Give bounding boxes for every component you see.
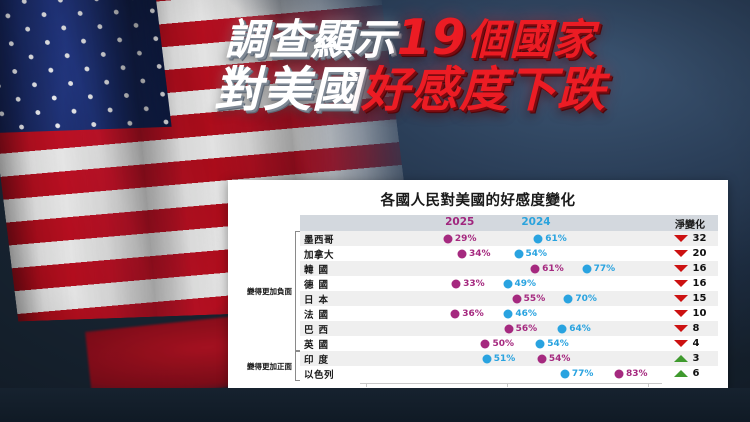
net-change-cell: 16 <box>662 278 718 289</box>
country-label: 墨西哥 <box>300 232 360 246</box>
chart-header-row: 2025 2024 淨變化 <box>300 215 718 231</box>
country-label: 韓國 <box>300 262 360 276</box>
country-label: 以色列 <box>300 367 360 381</box>
data-label-p24: 51% <box>494 354 516 364</box>
dumbbell-plot: 61%77% <box>360 261 662 276</box>
dumbbell-plot: 55%70% <box>360 291 662 306</box>
arrow-down-icon <box>674 310 688 317</box>
dumbbell-plot: 50%54% <box>360 336 662 351</box>
data-point-p25 <box>481 339 490 348</box>
chart-rows: 墨西哥29%61%32加拿大34%54%20韓國61%77%16德國33%49%… <box>300 231 718 381</box>
data-point-p25 <box>537 354 546 363</box>
legend-2025: 2025 <box>445 216 474 228</box>
dumbbell-plot: 36%46% <box>360 306 662 321</box>
arrow-down-icon <box>674 265 688 272</box>
net-change-cell: 32 <box>662 233 718 244</box>
dumbbell-plot: 51%54% <box>360 351 662 366</box>
data-label-p25: 29% <box>455 234 477 244</box>
arrow-up-icon <box>674 355 688 362</box>
data-point-p24 <box>560 369 569 378</box>
data-label-p25: 50% <box>492 339 514 349</box>
data-label-p25: 61% <box>542 264 564 274</box>
net-change-value: 3 <box>693 353 707 364</box>
data-point-p24 <box>503 279 512 288</box>
data-label-p24: 77% <box>572 369 594 379</box>
data-label-p24: 61% <box>545 234 567 244</box>
header-net-change: 淨變化 <box>662 216 718 231</box>
axis-line <box>360 383 662 384</box>
group-bracket: 變得更加正面 <box>247 351 300 381</box>
data-label-p25: 36% <box>462 309 484 319</box>
data-point-p24 <box>482 354 491 363</box>
data-point-p25 <box>458 249 467 258</box>
table-row: 法國36%46%10 <box>300 306 718 321</box>
net-change-value: 6 <box>693 368 707 379</box>
net-change-cell: 15 <box>662 293 718 304</box>
net-change-cell: 3 <box>662 353 718 364</box>
dumbbell-plot: 77%83% <box>360 366 662 381</box>
data-label-p24: 64% <box>569 324 591 334</box>
table-row: 印度51%54%3 <box>300 351 718 366</box>
dumbbell-plot: 29%61% <box>360 231 662 246</box>
data-label-p24: 77% <box>594 264 616 274</box>
data-label-p24: 54% <box>547 339 569 349</box>
net-change-value: 4 <box>693 338 707 349</box>
arrow-down-icon <box>674 340 688 347</box>
data-label-p25: 56% <box>516 324 538 334</box>
data-label-p25: 55% <box>524 294 546 304</box>
data-point-p24 <box>514 249 523 258</box>
arrow-down-icon <box>674 250 688 257</box>
country-label: 加拿大 <box>300 247 360 261</box>
axis-tick <box>507 383 508 387</box>
data-label-p25: 34% <box>469 249 491 259</box>
net-change-value: 32 <box>693 233 707 244</box>
net-change-cell: 20 <box>662 248 718 259</box>
bottom-bar <box>0 388 750 422</box>
net-change-value: 16 <box>693 278 707 289</box>
net-change-cell: 16 <box>662 263 718 274</box>
arrow-up-icon <box>674 370 688 377</box>
data-point-p25 <box>512 294 521 303</box>
table-row: 韓國61%77%16 <box>300 261 718 276</box>
data-point-p24 <box>564 294 573 303</box>
group-label: 變得更加正面 <box>247 361 295 372</box>
country-label: 德國 <box>300 277 360 291</box>
data-point-p25 <box>615 369 624 378</box>
data-point-p25 <box>531 264 540 273</box>
arrow-down-icon <box>674 235 688 242</box>
data-point-p24 <box>582 264 591 273</box>
data-point-p24 <box>534 234 543 243</box>
bracket-line <box>295 231 300 351</box>
country-label: 英國 <box>300 337 360 351</box>
dumbbell-plot: 34%54% <box>360 246 662 261</box>
group-label: 變得更加負面 <box>247 286 295 297</box>
chart-grid: 2025 2024 淨變化 變得更加負面變得更加正面 墨西哥29%61%32加拿… <box>238 215 718 401</box>
data-point-p24 <box>536 339 545 348</box>
country-label: 日本 <box>300 292 360 306</box>
data-label-p25: 83% <box>626 369 648 379</box>
data-label-p25: 33% <box>463 279 485 289</box>
data-point-p25 <box>452 279 461 288</box>
table-row: 英國50%54%4 <box>300 336 718 351</box>
legend-2024: 2024 <box>521 216 550 228</box>
group-bracket: 變得更加負面 <box>247 231 300 351</box>
data-point-p24 <box>504 309 513 318</box>
net-change-value: 8 <box>693 323 707 334</box>
data-label-p25: 54% <box>549 354 571 364</box>
data-point-p25 <box>504 324 513 333</box>
data-point-p25 <box>443 234 452 243</box>
net-change-cell: 10 <box>662 308 718 319</box>
dumbbell-plot: 56%64% <box>360 321 662 336</box>
net-change-cell: 8 <box>662 323 718 334</box>
arrow-down-icon <box>674 295 688 302</box>
header-series-cell: 2025 2024 <box>360 215 662 231</box>
net-change-value: 16 <box>693 263 707 274</box>
table-row: 德國33%49%16 <box>300 276 718 291</box>
chart-card: 各國人民對美國的好感度變化 2025 2024 淨變化 變得更加負面變得更加正面… <box>228 180 728 395</box>
data-label-p24: 70% <box>575 294 597 304</box>
net-change-value: 20 <box>693 248 707 259</box>
data-point-p24 <box>558 324 567 333</box>
axis-tick <box>366 383 367 387</box>
arrow-down-icon <box>674 325 688 332</box>
table-row: 墨西哥29%61%32 <box>300 231 718 246</box>
net-change-cell: 4 <box>662 338 718 349</box>
country-label: 巴西 <box>300 322 360 336</box>
data-label-p24: 54% <box>526 249 548 259</box>
arrow-down-icon <box>674 280 688 287</box>
bracket-line <box>295 351 300 381</box>
axis-tick <box>648 383 649 387</box>
dumbbell-plot: 33%49% <box>360 276 662 291</box>
data-label-p24: 46% <box>515 309 537 319</box>
table-row: 加拿大34%54%20 <box>300 246 718 261</box>
table-row: 巴西56%64%8 <box>300 321 718 336</box>
data-label-p24: 49% <box>515 279 537 289</box>
table-row: 日本55%70%15 <box>300 291 718 306</box>
data-point-p25 <box>451 309 460 318</box>
chart-title: 各國人民對美國的好感度變化 <box>238 189 718 210</box>
group-bracket-column: 變得更加負面變得更加正面 <box>238 231 300 381</box>
net-change-value: 15 <box>693 293 707 304</box>
poster-canvas: 調查顯示19個國家 對美國好感度下跌 各國人民對美國的好感度變化 2025 20… <box>0 0 750 422</box>
net-change-value: 10 <box>693 308 707 319</box>
table-row: 以色列77%83%6 <box>300 366 718 381</box>
country-label: 印度 <box>300 352 360 366</box>
net-change-cell: 6 <box>662 368 718 379</box>
country-label: 法國 <box>300 307 360 321</box>
